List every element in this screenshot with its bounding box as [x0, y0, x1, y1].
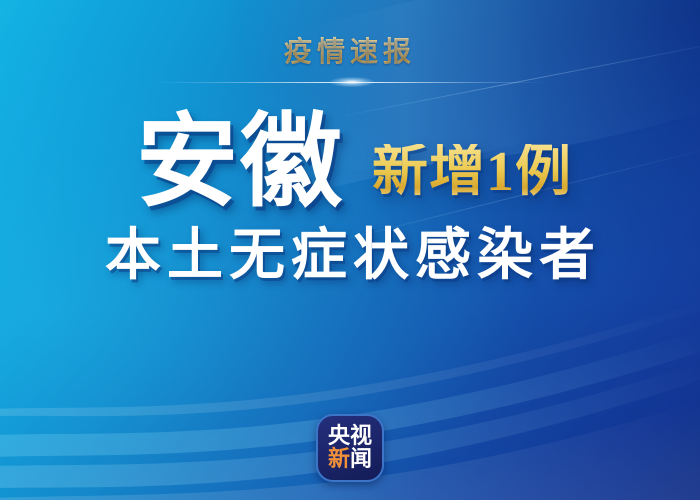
epidemic-report-poster: 疫情速报 安徽 新增1例 本土无症状感染者 央视 新闻	[0, 0, 700, 500]
divider-glow	[330, 77, 374, 87]
logo-container: 央视 新闻	[0, 414, 700, 482]
poster-header: 疫情速报	[0, 30, 700, 70]
header-label: 疫情速报	[284, 30, 416, 70]
logo-text-bottom: 新闻	[328, 449, 372, 471]
province-name: 安徽	[136, 112, 344, 216]
new-case-count: 新增1例	[372, 144, 572, 200]
headline-line-two: 本土无症状感染者	[0, 226, 700, 288]
header-divider-flare	[0, 81, 700, 85]
logo-text-top: 央视	[328, 426, 372, 448]
logo-text-bottom-accent: 新	[328, 447, 350, 472]
headline-line-one: 安徽 新增1例	[0, 112, 700, 216]
case-category: 本土无症状感染者	[99, 225, 601, 287]
logo-text-bottom-rest: 闻	[350, 447, 372, 472]
cctv-news-logo: 央视 新闻	[316, 414, 384, 482]
headline-block: 安徽 新增1例 本土无症状感染者	[0, 112, 700, 288]
